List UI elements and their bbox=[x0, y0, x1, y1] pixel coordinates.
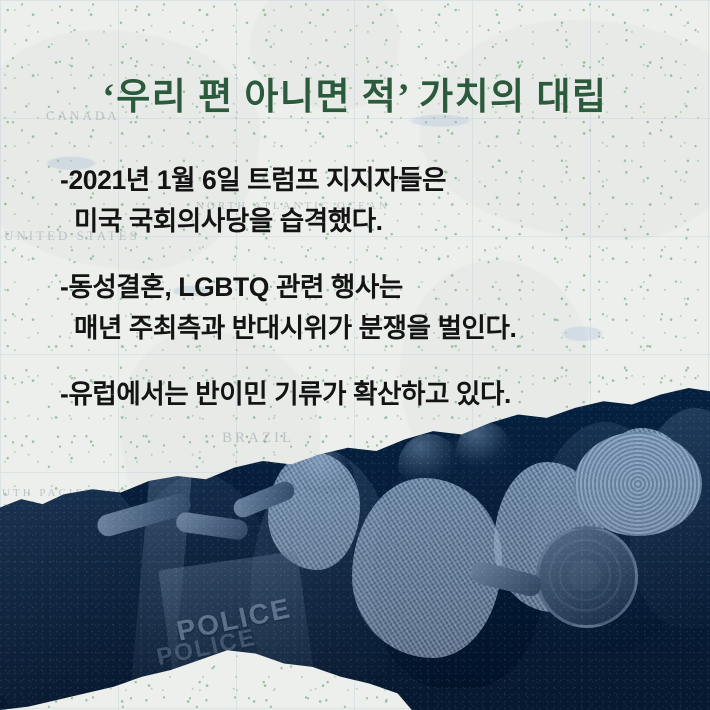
slide-canvas: CANADA UNITED STATES NORTH ATLANTIC OCEA… bbox=[0, 0, 710, 710]
bullet-item-2: -동성결혼, LGBTQ 관련 행사는 매년 주최측과 반대시위가 분쟁을 벌인… bbox=[60, 267, 670, 349]
bullet-2-line-2: 매년 주최측과 반대시위가 분쟁을 벌인다. bbox=[60, 308, 670, 349]
slide-title: ‘우리 편 아니면 적’ 가치의 대립 bbox=[0, 66, 710, 120]
bullet-1-line-2: 미국 국회의사당을 습격했다. bbox=[60, 201, 670, 242]
bullet-item-1: -2021년 1월 6일 트럼프 지지자들은 미국 국회의사당을 습격했다. bbox=[60, 160, 670, 242]
bullet-2-text-1: 동성결혼, LGBTQ 관련 행사는 bbox=[68, 272, 402, 302]
bullet-list: -2021년 1월 6일 트럼프 지지자들은 미국 국회의사당을 습격했다. -… bbox=[60, 160, 670, 440]
bullet-1-line-1: -2021년 1월 6일 트럼프 지지자들은 bbox=[60, 160, 670, 201]
bullet-2-line-1: -동성결혼, LGBTQ 관련 행사는 bbox=[60, 267, 670, 308]
bullet-3-text-1: 유럽에서는 반이민 기류가 확산하고 있다. bbox=[68, 379, 510, 409]
bullet-1-text-1: 2021년 1월 6일 트럼프 지지자들은 bbox=[68, 165, 446, 195]
